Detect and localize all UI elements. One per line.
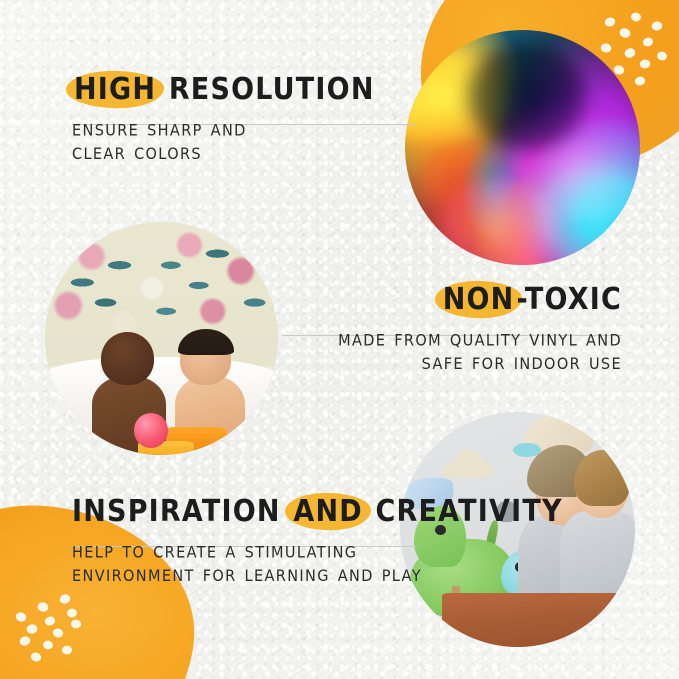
description-non-toxic: MADE FROM QUALITY VINYL AND SAFE FOR IND… <box>262 330 622 376</box>
headline-high-resolution: HIGH RESOLUTION <box>72 74 422 106</box>
headline-non-toxic: NON-TOXIC <box>262 284 622 316</box>
baby-left-head <box>101 332 155 386</box>
feature-non-toxic: NON-TOXIC MADE FROM QUALITY VINYL AND SA… <box>262 288 622 372</box>
headline-highlight-word: NON <box>441 284 517 316</box>
toy-ball <box>134 413 169 448</box>
description-inspiration-creativity: HELP TO CREATE A STIMULATING ENVIRONMENT… <box>72 542 422 588</box>
cloud-decal <box>442 459 494 478</box>
feature-inspiration-creativity: INSPIRATION AND CREATIVITY HELP TO CREAT… <box>72 500 422 584</box>
headline-rest-word: RESOLUTION <box>169 72 375 107</box>
headline-rest-word: CREATIVITY <box>375 494 562 529</box>
floral-wallpaper <box>45 222 278 366</box>
feature-high-resolution: HIGH RESOLUTION ENSURE SHARP AND CLEAR C… <box>72 78 422 162</box>
headline-rest-word: -TOXIC <box>516 282 622 317</box>
headline-highlight-word: HIGH <box>72 74 158 106</box>
kids-dinosaur-decals-circle <box>400 412 635 647</box>
feature-poster: HIGH RESOLUTION ENSURE SHARP AND CLEAR C… <box>0 0 679 679</box>
headline-lead-word: INSPIRATION <box>72 494 281 529</box>
wooden-table <box>442 593 635 647</box>
abstract-fluid-art-circle <box>405 30 640 265</box>
headline-inspiration-creativity: INSPIRATION AND CREATIVITY <box>72 496 422 528</box>
headline-highlight-word: AND <box>291 496 365 528</box>
white-dot-cluster-bottom-left-icon <box>10 593 86 667</box>
babies-floral-wallpaper-circle <box>45 222 278 455</box>
description-high-resolution: ENSURE SHARP AND CLEAR COLORS <box>72 120 422 166</box>
